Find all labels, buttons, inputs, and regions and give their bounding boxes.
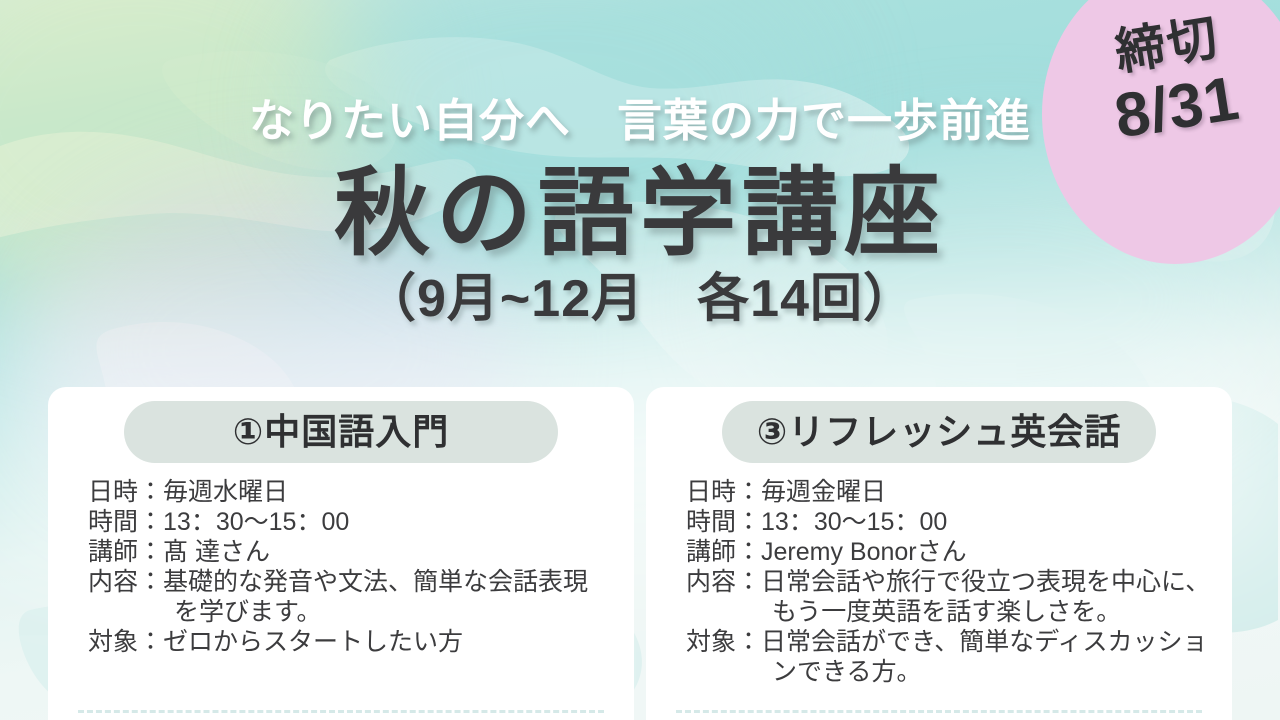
detail-row: 講師： Jeremy Bonorさん — [686, 537, 1214, 567]
detail-continuation: もう一度英語を話す楽しさを。 — [686, 597, 1214, 627]
detail-label: 日時： — [686, 477, 761, 507]
course-title-pill-1: ①中国語入門 — [124, 401, 558, 463]
detail-row: 内容： 基礎的な発音や文法、簡単な会話表現 — [88, 567, 616, 597]
detail-label: 対象： — [88, 627, 163, 657]
detail-row: 内容： 日常会話や旅行で役立つ表現を中心に、 — [686, 567, 1214, 597]
poster-canvas: 締切 8/31 なりたい自分へ 言葉の力で一歩前進 秋の語学講座 （9月~12月… — [0, 0, 1280, 720]
detail-label: 時間： — [686, 507, 761, 537]
detail-row: 対象： 日常会話ができ、簡単なディスカッショ — [686, 627, 1214, 657]
detail-row: 日時： 毎週金曜日 — [686, 477, 1214, 507]
detail-value: 13：30〜15：00 — [163, 507, 616, 537]
detail-label: 講師： — [686, 537, 761, 567]
course-title-pill-3: ③リフレッシュ英会話 — [722, 401, 1156, 463]
detail-row: 対象： ゼロからスタートしたい方 — [88, 627, 616, 657]
course-card-list: ①中国語入門 日時： 毎週水曜日 時間： 13：30〜15：00 講師： 髙 達… — [48, 387, 1232, 720]
detail-continuation: を学びます。 — [88, 597, 616, 627]
detail-value: 13：30〜15：00 — [761, 507, 1214, 537]
poster-subtitle: （9月~12月 各14回） — [0, 271, 1280, 328]
detail-row: 講師： 髙 達さん — [88, 537, 616, 567]
detail-row: 日時： 毎週水曜日 — [88, 477, 616, 507]
detail-label: 対象： — [686, 627, 761, 657]
detail-label: 講師： — [88, 537, 163, 567]
detail-value: ゼロからスタートしたい方 — [163, 627, 616, 657]
detail-value: 日常会話や旅行で役立つ表現を中心に、 — [761, 567, 1214, 597]
detail-label: 日時： — [88, 477, 163, 507]
detail-value: 髙 達さん — [163, 537, 616, 567]
course-details-3: 日時： 毎週金曜日 時間： 13：30〜15：00 講師： Jeremy Bon… — [686, 477, 1232, 687]
detail-label: 内容： — [686, 567, 761, 597]
card-divider — [78, 710, 604, 713]
detail-label: 内容： — [88, 567, 163, 597]
course-title-3: ③リフレッシュ英会話 — [757, 414, 1121, 450]
detail-continuation: ンできる方。 — [686, 657, 1214, 687]
detail-value: 毎週水曜日 — [163, 477, 616, 507]
course-details-1: 日時： 毎週水曜日 時間： 13：30〜15：00 講師： 髙 達さん 内容： … — [88, 477, 634, 657]
course-card-1: ①中国語入門 日時： 毎週水曜日 時間： 13：30〜15：00 講師： 髙 達… — [48, 387, 634, 720]
detail-row: 時間： 13：30〜15：00 — [686, 507, 1214, 537]
detail-label: 時間： — [88, 507, 163, 537]
course-title-1: ①中国語入門 — [233, 414, 449, 450]
detail-value: 日常会話ができ、簡単なディスカッショ — [761, 627, 1214, 657]
course-card-3: ③リフレッシュ英会話 日時： 毎週金曜日 時間： 13：30〜15：00 講師：… — [646, 387, 1232, 720]
card-divider — [676, 710, 1202, 713]
detail-value: 毎週金曜日 — [761, 477, 1214, 507]
detail-value: 基礎的な発音や文法、簡単な会話表現 — [163, 567, 616, 597]
detail-value: Jeremy Bonorさん — [761, 537, 1214, 567]
deadline-badge: 締切 8/31 — [1064, 4, 1280, 223]
detail-row: 時間： 13：30〜15：00 — [88, 507, 616, 537]
